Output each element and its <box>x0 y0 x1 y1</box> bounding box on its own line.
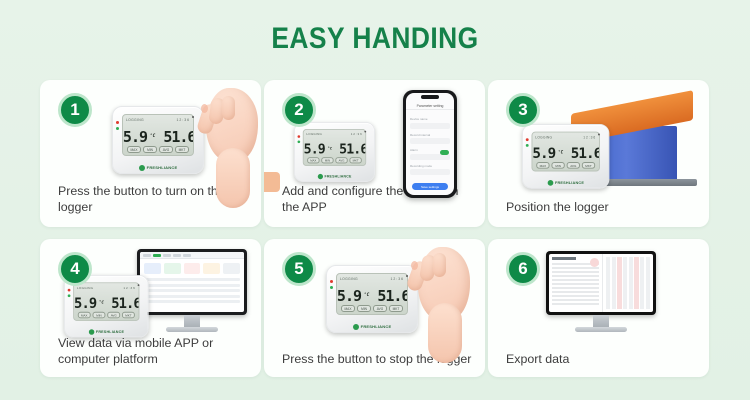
led-red <box>298 135 301 138</box>
phone-app-title: Parameter setting <box>406 102 454 110</box>
stat-min: MIN <box>357 305 371 312</box>
stat-tile <box>164 263 181 274</box>
stat-mkt: MKT <box>122 312 135 318</box>
led-green <box>526 144 529 147</box>
report-line <box>552 299 599 301</box>
dashboard-toolbar <box>140 252 244 259</box>
logger-led-indicators <box>116 121 119 133</box>
logger-stat-row: MAX MIN AVG MKT <box>307 157 362 163</box>
temperature-unit: °C <box>364 293 369 298</box>
hand-wrist <box>216 148 250 208</box>
steps-grid: 1 LOGGING 12:36 25.9 °C 51.6 % <box>40 80 710 377</box>
step-badge-6: 6 <box>506 252 540 286</box>
humidity-value: 51.6 <box>339 141 366 157</box>
stat-avg: AVG <box>159 146 173 153</box>
stat-tile <box>144 263 161 274</box>
brand-leaf-icon <box>353 324 359 330</box>
logger-status-bar: LOGGING 12:36 <box>126 117 190 123</box>
data-report-ui <box>549 254 653 312</box>
report-line <box>552 303 599 305</box>
report-line <box>552 275 599 277</box>
brand-name: FRESHLIANCE <box>361 324 392 329</box>
toolbar-item[interactable] <box>173 254 181 257</box>
led-green <box>116 127 119 130</box>
monitor-bezel <box>137 249 247 315</box>
hand-nail <box>411 261 418 270</box>
phone-field-2[interactable] <box>410 138 450 144</box>
data-logger-device: LOGGING 12:36 25.9 °C 51.6 % MAX MI <box>294 122 375 182</box>
step-caption-3: Position the logger <box>506 199 699 215</box>
logger-clock: 12:36 <box>123 286 135 290</box>
stat-min: MIN <box>93 312 106 318</box>
hand-finger-ring <box>433 253 446 277</box>
hand-nail <box>201 104 208 113</box>
phone-alarm-toggle[interactable] <box>440 150 449 155</box>
page-title: EASY HANDING <box>45 22 705 56</box>
stat-mkt: MKT <box>175 146 189 153</box>
dashboard-stat-tiles <box>140 259 244 276</box>
toolbar-item[interactable] <box>183 254 191 257</box>
report-document <box>549 254 603 312</box>
step-card-5[interactable]: 5 LOGGING 12:36 25.9 °C 51.6 % <box>264 239 485 377</box>
brand-leaf-icon <box>139 165 145 171</box>
chart-band <box>606 257 610 309</box>
logger-status-bar: LOGGING 12:36 <box>340 276 404 282</box>
brand-name: FRESHLIANCE <box>96 329 124 334</box>
phone-field-label-2: Record interval <box>410 133 450 137</box>
table-row <box>144 300 240 303</box>
stat-max: MAX <box>78 312 91 318</box>
logger-led-indicators <box>298 135 301 146</box>
hand-finger-ring <box>222 96 235 120</box>
temperature-unit-text: °C <box>150 134 155 139</box>
temperature-value: 25.9 <box>532 145 556 162</box>
phone-save-button[interactable]: Save settings <box>412 183 448 190</box>
stat-tile <box>203 263 220 274</box>
monitor-neck <box>184 315 200 327</box>
logger-status-label: LOGGING <box>126 118 144 122</box>
step-badge-5: 5 <box>282 252 316 286</box>
logger-status-label: LOGGING <box>306 133 322 137</box>
led-green <box>298 140 301 143</box>
brand-name: FRESHLIANCE <box>555 180 584 185</box>
report-line <box>552 291 599 293</box>
step-card-3[interactable]: 3 LOGGING 12:36 25. <box>488 80 709 227</box>
logger-clock: 12:36 <box>177 118 191 122</box>
logger-brand: FRESHLIANCE <box>295 173 374 178</box>
stat-tile <box>184 263 201 274</box>
monitor-bezel <box>546 251 656 315</box>
logger-status-label: LOGGING <box>340 277 358 281</box>
led-red <box>116 121 119 124</box>
report-seal-icon <box>590 258 599 267</box>
desktop-monitor <box>546 251 656 332</box>
logger-stat-row: MAX MIN AVG MKT <box>78 312 135 318</box>
stat-avg: AVG <box>567 162 580 169</box>
logger-status-label: LOGGING <box>77 286 94 290</box>
step-badge-4: 4 <box>58 252 92 286</box>
phone-field-4[interactable] <box>410 169 450 175</box>
temperature-unit: °C <box>558 151 563 156</box>
step-card-4[interactable]: 4 <box>40 239 261 377</box>
chart-band-alert <box>634 257 638 309</box>
table-row <box>144 278 240 281</box>
step-badge-1: 1 <box>58 93 92 127</box>
chart-band <box>612 257 616 309</box>
logger-lcd-screen: LOGGING 12:36 25.9 °C 51.6 % MAX MI <box>73 282 139 321</box>
logger-lcd-screen: LOGGING 12:36 25.9 °C 51.6 % MAX MI <box>532 132 600 172</box>
logger-stat-row: MAX MIN AVG MKT <box>536 162 595 169</box>
smartphone: Parameter setting Device name Record int… <box>403 90 457 198</box>
stat-avg: AVG <box>107 312 120 318</box>
stat-min: MIN <box>143 146 157 153</box>
led-red <box>330 280 333 283</box>
monitor-base <box>166 327 218 332</box>
table-row <box>144 289 240 292</box>
logger-status-bar: LOGGING 12:36 <box>535 134 596 140</box>
page-background: EASY HANDING 1 LOGGING 12:36 25.9 °C <box>0 0 750 400</box>
stat-mkt: MKT <box>389 305 403 312</box>
temperature-value: 25.9 <box>336 287 361 305</box>
humidity-value: 51.6 <box>163 128 194 146</box>
toolbar-item-active[interactable] <box>153 254 161 257</box>
chart-band <box>623 257 627 309</box>
temperature-unit-text: °C <box>558 151 563 156</box>
monitor-screen <box>549 254 653 312</box>
stat-avg: AVG <box>373 305 387 312</box>
stat-mkt: MKT <box>349 157 361 163</box>
brand-leaf-icon <box>547 180 553 186</box>
temperature-value: 25.9 <box>122 128 147 146</box>
led-green <box>330 286 333 289</box>
led-red <box>526 138 529 141</box>
logger-brand: FRESHLIANCE <box>65 329 148 335</box>
hand-wrist <box>428 303 462 363</box>
logger-led-indicators <box>330 280 333 292</box>
toolbar-item[interactable] <box>163 254 171 257</box>
temperature-unit: °C <box>150 134 155 139</box>
report-chart <box>603 254 653 312</box>
table-row <box>144 295 240 298</box>
desktop-monitor <box>137 249 247 332</box>
chart-band <box>629 257 633 309</box>
phone-screen: Parameter setting Device name Record int… <box>406 93 454 195</box>
logger-clock: 12:36 <box>583 135 596 139</box>
report-line <box>552 267 599 269</box>
stat-min: MIN <box>321 157 333 163</box>
hand-illustration <box>192 80 261 224</box>
logger-status-bar: LOGGING 12:36 <box>306 132 362 137</box>
step-card-1[interactable]: 1 LOGGING 12:36 25.9 °C 51.6 % <box>40 80 261 227</box>
monitor-screen <box>140 252 244 312</box>
stat-mkt: MKT <box>582 162 595 169</box>
logger-stat-row: MAX MIN AVG MKT <box>341 305 403 312</box>
logger-status-label: LOGGING <box>535 135 552 139</box>
phone-notch <box>421 95 439 99</box>
dashboard-ui <box>140 252 244 312</box>
chart-band <box>646 257 650 309</box>
temperature-unit-text: °C <box>364 293 369 298</box>
brand-name: FRESHLIANCE <box>325 174 352 178</box>
step-card-6[interactable]: 6 <box>488 239 709 377</box>
brand-leaf-icon <box>317 173 322 178</box>
phone-form: Device name Record interval Alarm Record… <box>410 113 450 175</box>
temperature-value: 25.9 <box>73 295 96 312</box>
humidity-value: 51.6 <box>111 295 139 312</box>
data-logger-device: LOGGING 12:36 25.9 °C 51.6 % MAX MI <box>522 124 609 189</box>
logger-stat-row: MAX MIN AVG MKT <box>127 146 189 153</box>
temperature-unit-text: °C <box>99 301 104 306</box>
report-line <box>552 279 599 281</box>
report-line <box>552 295 599 297</box>
logger-lcd-screen: LOGGING 12:36 25.9 °C 51.6 % MAX MI <box>122 114 194 156</box>
logger-led-indicators <box>526 138 529 149</box>
stat-tile <box>223 263 240 274</box>
phone-field-label-4: Recording mode <box>410 164 450 168</box>
step-caption-4: View data via mobile APP or computer pla… <box>58 335 251 367</box>
led-red <box>68 289 71 292</box>
step-card-2[interactable]: 2 Parameter setting Device name Record i… <box>264 80 485 227</box>
temperature-unit: °C <box>99 301 104 306</box>
report-line <box>552 283 599 285</box>
logger-status-bar: LOGGING 12:36 <box>77 285 136 291</box>
logger-lcd-screen: LOGGING 12:36 25.9 °C 51.6 % MAX MI <box>303 129 366 166</box>
logger-clock: 12:36 <box>351 133 363 137</box>
step-caption-6: Export data <box>506 351 699 367</box>
chart-band-alert <box>617 257 621 309</box>
logger-led-indicators <box>68 289 71 300</box>
dashboard-table <box>140 276 244 308</box>
report-line <box>552 287 599 289</box>
step-badge-3: 3 <box>506 93 540 127</box>
temperature-unit: °C <box>327 147 332 152</box>
report-title <box>552 257 576 260</box>
stat-max: MAX <box>127 146 141 153</box>
logger-lcd-screen: LOGGING 12:36 25.9 °C 51.6 % MAX MI <box>336 273 408 315</box>
decorative-blob <box>264 172 280 192</box>
brand-name: FRESHLIANCE <box>147 165 178 170</box>
chart-band <box>640 257 644 309</box>
led-green <box>68 294 71 297</box>
monitor-base <box>575 327 627 332</box>
toolbar-item[interactable] <box>143 254 151 257</box>
hand-illustration <box>402 239 485 375</box>
table-row <box>144 284 240 287</box>
stat-min: MIN <box>551 162 564 169</box>
temperature-unit-text: °C <box>327 147 332 152</box>
stat-max: MAX <box>536 162 549 169</box>
temperature-value: 25.9 <box>303 141 325 157</box>
stat-max: MAX <box>341 305 355 312</box>
logger-brand: FRESHLIANCE <box>113 165 203 171</box>
stat-max: MAX <box>307 157 319 163</box>
humidity-value: 51.6 <box>571 145 600 162</box>
report-line <box>552 271 599 273</box>
step-badge-2: 2 <box>282 93 316 127</box>
logger-brand: FRESHLIANCE <box>523 180 609 186</box>
data-logger-device: LOGGING 12:36 25.9 °C 51.6 % MAX MI <box>112 106 204 174</box>
phone-field-label-1: Device name <box>410 117 450 121</box>
brand-leaf-icon <box>89 329 95 335</box>
stat-avg: AVG <box>335 157 347 163</box>
monitor-neck <box>593 315 609 327</box>
phone-field-1[interactable] <box>410 123 450 129</box>
